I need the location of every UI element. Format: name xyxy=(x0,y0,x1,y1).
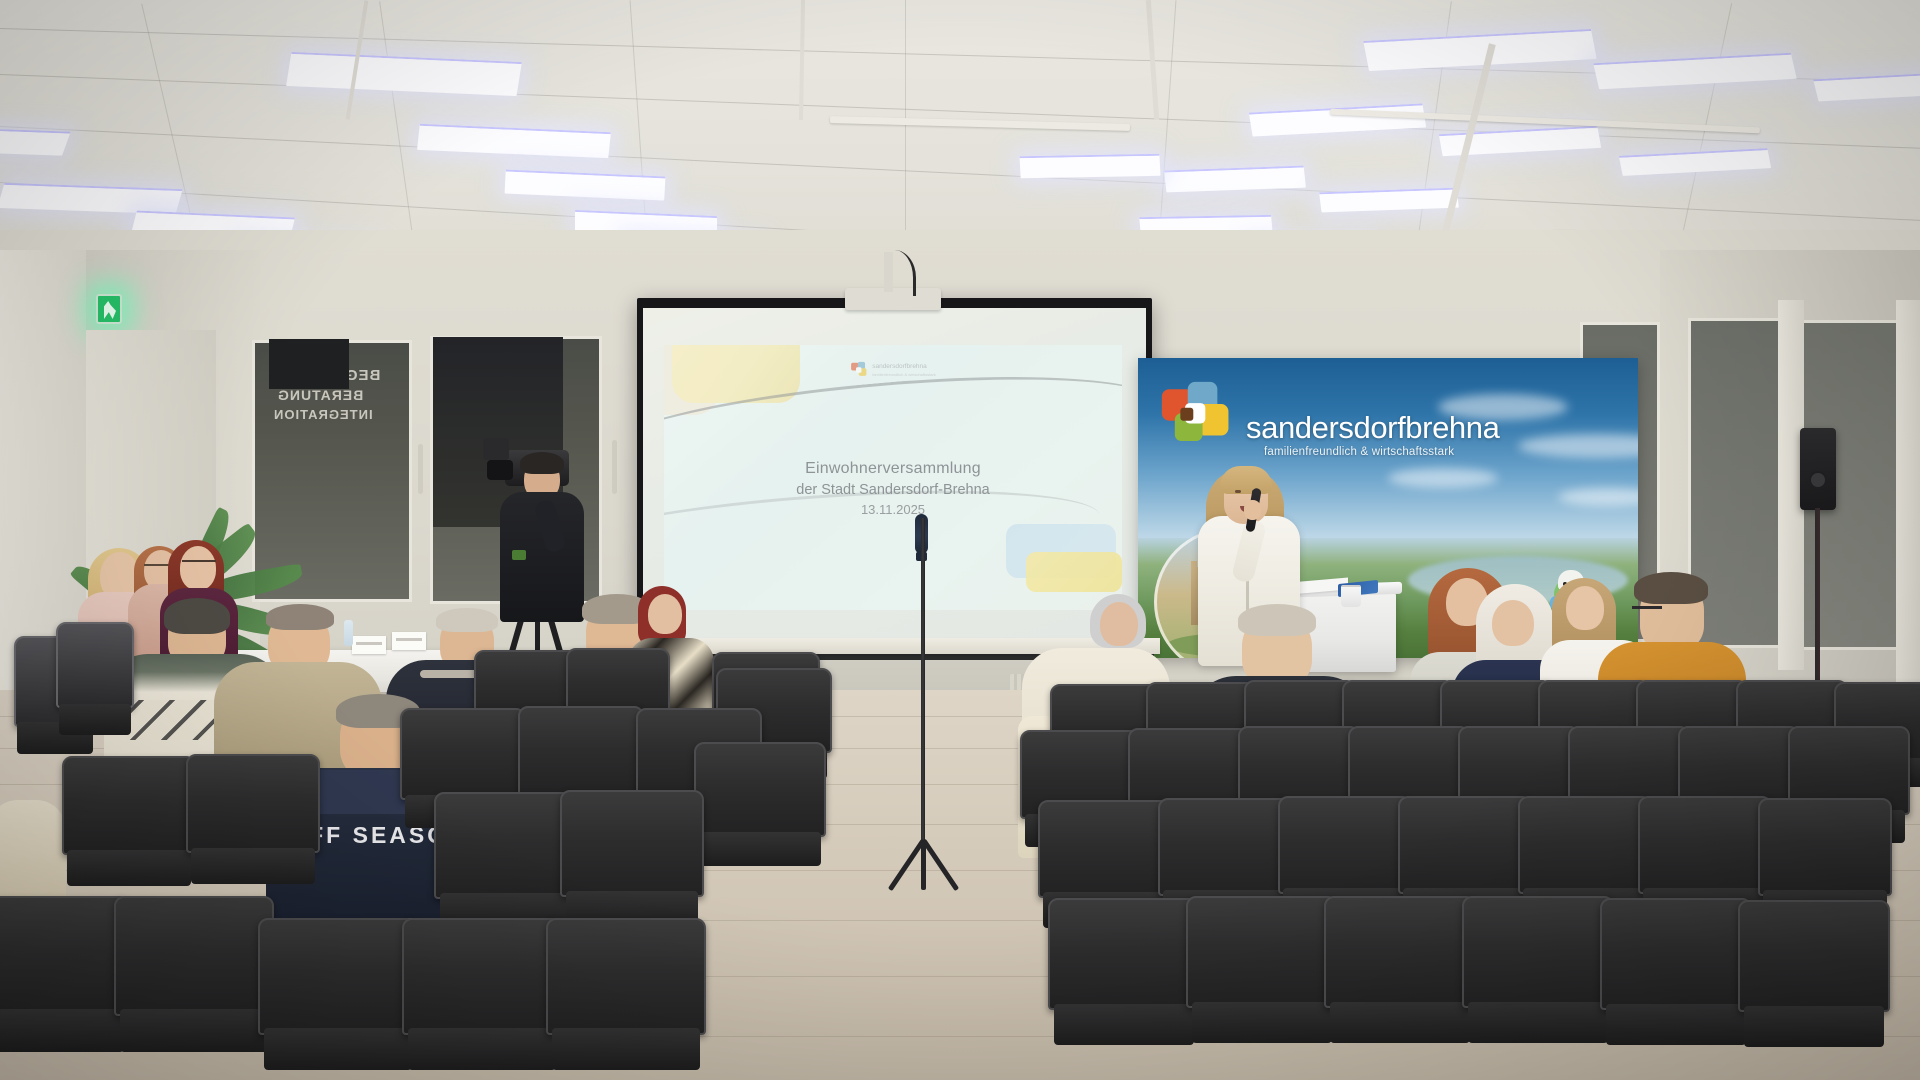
banner-cloud xyxy=(1388,468,1498,488)
ceiling-light-panel xyxy=(0,128,71,155)
presentation-slide: sandersdorfbrehna familienfreundlich & w… xyxy=(664,345,1122,610)
chair[interactable] xyxy=(1186,896,1338,1052)
chair[interactable] xyxy=(1048,898,1200,1054)
banner-city-name: sandersdorfbrehna xyxy=(1246,410,1499,446)
camera-lens xyxy=(487,460,513,480)
table-name-card xyxy=(352,636,386,654)
chair[interactable] xyxy=(0,896,130,1062)
emergency-exit-icon xyxy=(96,294,122,324)
water-bottle xyxy=(344,620,353,646)
chair[interactable] xyxy=(1324,896,1476,1052)
paper-cup xyxy=(1341,585,1361,607)
pa-speaker xyxy=(1800,428,1836,510)
door-handle[interactable] xyxy=(418,444,423,494)
chair[interactable] xyxy=(402,918,562,1080)
table-name-card xyxy=(392,632,426,650)
chair[interactable] xyxy=(546,918,706,1080)
meeting-hall-photo: BEGEGNUNG BERATUNG INTEGRATION TREFFPUNK… xyxy=(0,0,1920,1080)
chair[interactable] xyxy=(1600,898,1752,1054)
chair[interactable] xyxy=(560,790,704,938)
microphone-stand-pole xyxy=(921,518,925,888)
speaker-eye-left xyxy=(1235,490,1241,493)
chair[interactable] xyxy=(1738,900,1890,1056)
door-label-line2: BERATUNG xyxy=(277,387,363,403)
chair[interactable] xyxy=(258,918,418,1080)
ceiling-light-panel xyxy=(1019,154,1160,178)
chair[interactable] xyxy=(62,756,196,894)
slide-line-1: Einwohnerversammlung xyxy=(805,460,981,478)
banner-claim: familienfreundlich & wirtschaftsstark xyxy=(1264,446,1454,458)
speaker-hair-front xyxy=(1220,466,1272,494)
operator-badge xyxy=(512,550,526,560)
mic-stand-leg xyxy=(921,840,926,890)
door-handle-2[interactable] xyxy=(612,440,617,494)
wall-pillar-right-2 xyxy=(1896,300,1920,700)
chair[interactable] xyxy=(1462,896,1614,1052)
camera-monitor xyxy=(483,438,509,460)
door-label-line3: INTEGRATION xyxy=(273,407,373,422)
slide-line-3: 13.11.2025 xyxy=(861,502,925,517)
chair-office[interactable] xyxy=(56,622,134,742)
speaker-hand xyxy=(1244,500,1261,520)
slide-line-2: der Stadt Sandersdorf-Brehna xyxy=(796,482,989,498)
banner-logo-icon xyxy=(1160,380,1234,454)
glasses xyxy=(182,560,216,565)
chair[interactable] xyxy=(114,896,274,1062)
chair[interactable] xyxy=(694,742,826,874)
slide-title-block: Einwohnerversammlung der Stadt Sandersdo… xyxy=(664,345,1122,610)
glasses xyxy=(1632,606,1662,612)
chair[interactable] xyxy=(186,754,320,892)
